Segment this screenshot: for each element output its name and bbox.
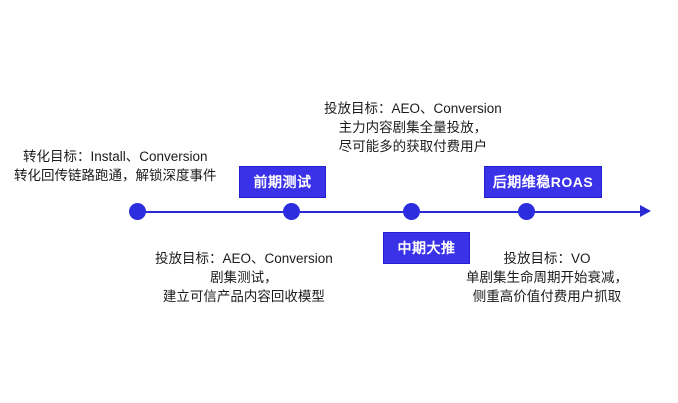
note-bottom-left: 投放目标：AEO、Conversion 剧集测试， 建立可信产品内容回收模型 bbox=[155, 249, 333, 306]
note-bottom-right-line-1: 投放目标：VO bbox=[466, 249, 628, 268]
note-bottom-right: 投放目标：VO 单剧集生命周期开始衰减， 侧重高价值付费用户抓取 bbox=[466, 249, 628, 306]
note-bottom-right-line-3: 侧重高价值付费用户抓取 bbox=[466, 287, 628, 306]
note-top-left-line-2: 转化回传链路跑通，解锁深度事件 bbox=[14, 166, 217, 185]
stage-badge-early[interactable]: 前期测试 bbox=[239, 166, 326, 198]
stage-badge-late[interactable]: 后期维稳ROAS bbox=[484, 166, 602, 198]
note-bottom-left-line-2: 剧集测试， bbox=[155, 268, 333, 287]
timeline-diagram: 前期测试 中期大推 后期维稳ROAS 转化目标：Install、Conversi… bbox=[0, 0, 678, 403]
timeline-node-1[interactable] bbox=[129, 203, 146, 220]
timeline-axis bbox=[133, 211, 645, 213]
note-bottom-left-line-1: 投放目标：AEO、Conversion bbox=[155, 249, 333, 268]
note-top-middle-line-1: 投放目标：AEO、Conversion bbox=[324, 99, 502, 118]
note-top-middle-line-3: 尽可能多的获取付费用户 bbox=[324, 137, 502, 156]
stage-badge-mid[interactable]: 中期大推 bbox=[383, 232, 470, 264]
timeline-arrow-icon bbox=[640, 205, 651, 217]
note-bottom-right-line-2: 单剧集生命周期开始衰减， bbox=[466, 268, 628, 287]
timeline-node-4[interactable] bbox=[518, 203, 535, 220]
note-top-left: 转化目标：Install、Conversion 转化回传链路跑通，解锁深度事件 bbox=[14, 147, 217, 185]
timeline-node-2[interactable] bbox=[283, 203, 300, 220]
timeline-node-3[interactable] bbox=[403, 203, 420, 220]
note-bottom-left-line-3: 建立可信产品内容回收模型 bbox=[155, 287, 333, 306]
note-top-middle-line-2: 主力内容剧集全量投放， bbox=[324, 118, 502, 137]
note-top-left-line-1: 转化目标：Install、Conversion bbox=[14, 147, 217, 166]
note-top-middle: 投放目标：AEO、Conversion 主力内容剧集全量投放， 尽可能多的获取付… bbox=[324, 99, 502, 156]
